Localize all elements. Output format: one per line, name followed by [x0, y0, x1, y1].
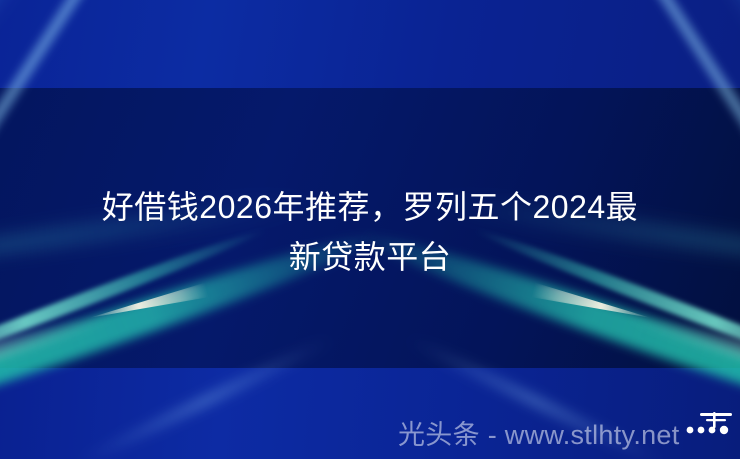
banner-title: 好借钱2026年推荐，罗列五个2024最 新贷款平台: [0, 182, 740, 282]
watermark-logo-icon: [680, 408, 736, 442]
background-band-top: [0, 0, 740, 88]
watermark-text: 光头条 - www.stlhty.net: [398, 413, 680, 452]
promo-banner: 好借钱2026年推荐，罗列五个2024最 新贷款平台 光头条 - www.stl…: [0, 0, 740, 459]
